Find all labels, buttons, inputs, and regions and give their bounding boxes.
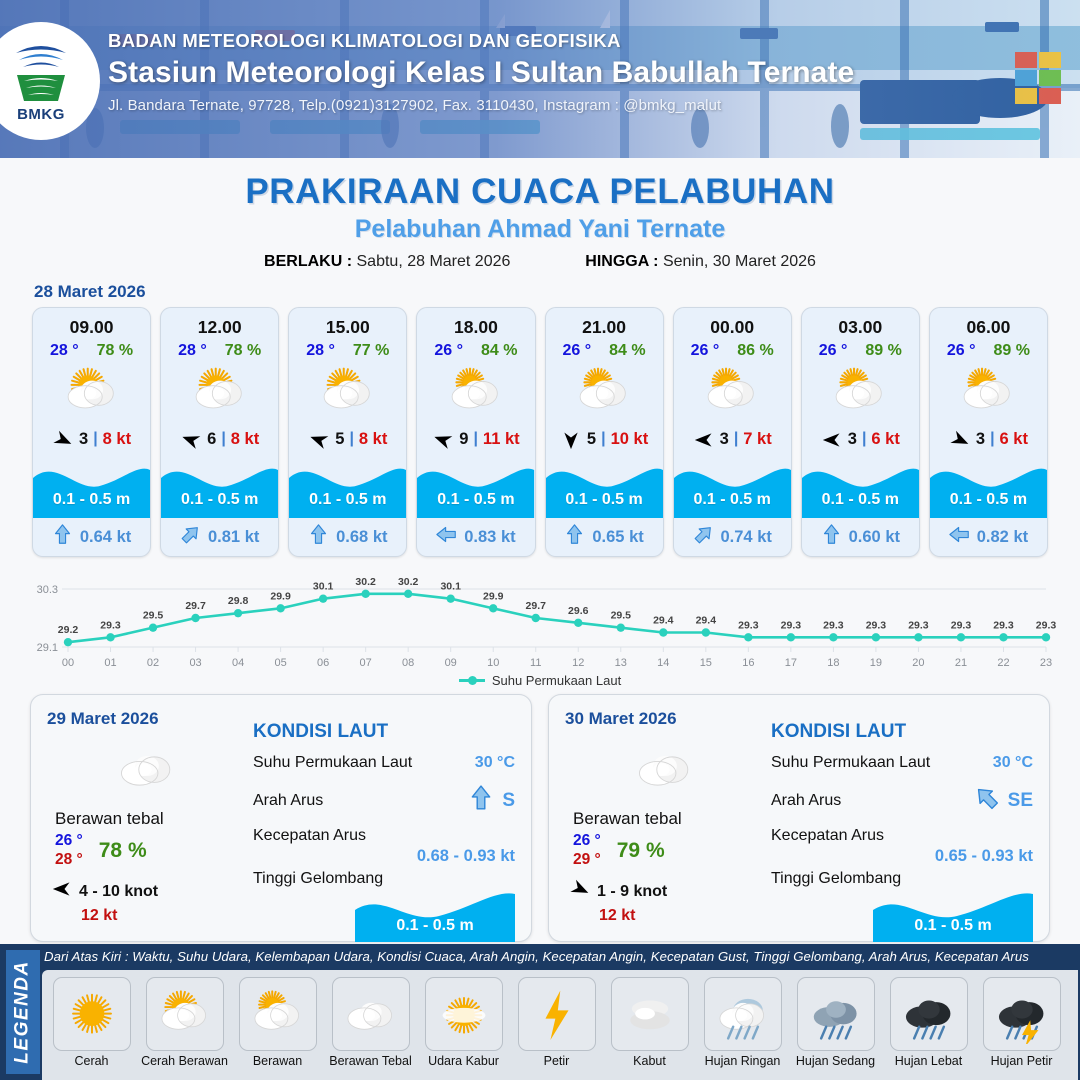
card-humidity: 86 %	[737, 342, 773, 360]
svg-text:07: 07	[360, 657, 372, 669]
daily-wave-box: 0.1 - 0.5 m	[355, 890, 515, 942]
current-direction-arrow-icon	[974, 783, 1000, 818]
wind-direction-arrow-icon	[569, 879, 591, 904]
gust-speed: 8 kt	[231, 430, 259, 449]
petir-icon	[518, 977, 596, 1051]
card-current: 0.68 kt	[289, 518, 406, 556]
hourly-card: 03.00 26 ° 89 % 3 | 6 kt 0.1 - 0.5 m 0.6…	[801, 307, 920, 557]
card-wave: 0.1 - 0.5 m	[161, 456, 278, 518]
berawan-tebal-icon	[47, 737, 247, 799]
card-wind: 6 | 8 kt	[161, 422, 278, 456]
svg-text:22: 22	[997, 657, 1009, 669]
svg-text:29.3: 29.3	[100, 619, 121, 631]
card-temp-hum: 26 ° 84 %	[417, 338, 534, 360]
daily-gust: 12 kt	[81, 907, 247, 925]
wave-height: 0.1 - 0.5 m	[33, 491, 150, 509]
separator: |	[734, 430, 738, 448]
current-speed: 0.60 kt	[849, 528, 900, 547]
page-subtitle: Pelabuhan Ahmad Yani Ternate	[0, 215, 1080, 244]
wind-speed: 3	[848, 430, 857, 449]
separator: |	[221, 430, 225, 448]
separator: |	[990, 430, 994, 448]
wave-height: 0.1 - 0.5 m	[802, 491, 919, 509]
current-speed: 0.64 kt	[80, 528, 131, 547]
svg-text:19: 19	[870, 657, 882, 669]
daily-sea-conditions: KONDISI LAUT Suhu Permukaan Laut 30 °C A…	[247, 709, 515, 931]
legend-item: Hujan Ringan	[697, 977, 788, 1068]
separator: |	[862, 430, 866, 448]
card-current: 0.65 kt	[546, 518, 663, 556]
daily-wind: 1 - 9 knot	[569, 879, 765, 904]
current-speed: 0.65 kt	[592, 528, 643, 547]
daily-temp-max: 29 °	[573, 851, 601, 869]
legend-item-label: Hujan Sedang	[796, 1054, 875, 1068]
card-current: 0.64 kt	[33, 518, 150, 556]
hujan-ringan-icon	[704, 977, 782, 1051]
gust-speed: 8 kt	[103, 430, 131, 449]
daily-wave-height: 0.1 - 0.5 m	[873, 917, 1033, 935]
daily-humidity: 79 %	[617, 839, 665, 863]
wave-height-label: Tinggi Gelombang	[771, 870, 1033, 888]
daily-wind: 4 - 10 knot	[51, 879, 247, 904]
current-speed: 0.82 kt	[977, 528, 1028, 547]
hujan-sedang-icon	[797, 977, 875, 1051]
current-direction-arrow-icon	[468, 783, 494, 818]
legend-item-label: Cerah	[74, 1054, 108, 1068]
current-speed-value: 0.68 - 0.93 kt	[253, 847, 515, 866]
legend-item-label: Kabut	[633, 1054, 666, 1068]
berawan-icon	[802, 362, 919, 422]
hourly-date-label: 28 Maret 2026	[34, 282, 1080, 302]
svg-text:09: 09	[445, 657, 457, 669]
card-wave: 0.1 - 0.5 m	[289, 456, 406, 518]
svg-text:00: 00	[62, 657, 74, 669]
legend-item: Hujan Lebat	[883, 977, 974, 1068]
valid-until-value: Senin, 30 Maret 2026	[663, 253, 816, 270]
card-humidity: 84 %	[481, 342, 517, 360]
card-wave: 0.1 - 0.5 m	[930, 456, 1047, 518]
legend-item: Hujan Sedang	[790, 977, 881, 1068]
hourly-card: 06.00 26 ° 89 % 3 | 6 kt 0.1 - 0.5 m 0.8…	[929, 307, 1048, 557]
svg-text:13: 13	[615, 657, 627, 669]
card-temperature: 26 °	[691, 342, 720, 360]
sst-value: 30 °C	[475, 754, 515, 772]
wind-direction-arrow-icon	[432, 430, 454, 448]
current-direction-arrow-icon	[436, 523, 457, 551]
card-temp-hum: 26 ° 86 %	[674, 338, 791, 360]
wind-direction-arrow-icon	[308, 430, 330, 448]
valid-until-label: HINGGA :	[585, 253, 658, 270]
card-temp-hum: 26 ° 89 %	[802, 338, 919, 360]
card-time: 12.00	[161, 308, 278, 338]
card-humidity: 78 %	[97, 342, 133, 360]
svg-text:06: 06	[317, 657, 329, 669]
svg-text:02: 02	[147, 657, 159, 669]
current-direction-row: Arah Arus SE	[771, 783, 1033, 818]
svg-text:30.2: 30.2	[398, 576, 419, 588]
wind-direction-arrow-icon	[821, 430, 843, 448]
legend-strip-label: LEGENDA	[12, 960, 34, 1063]
card-wave: 0.1 - 0.5 m	[674, 456, 791, 518]
berawan-icon	[546, 362, 663, 422]
sea-conditions-title: KONDISI LAUT	[771, 721, 1033, 743]
svg-text:17: 17	[785, 657, 797, 669]
card-wave: 0.1 - 0.5 m	[33, 456, 150, 518]
legend-item: Kabut	[604, 977, 695, 1068]
wind-speed: 6	[207, 430, 216, 449]
svg-text:29.9: 29.9	[270, 590, 291, 602]
svg-text:14: 14	[657, 657, 669, 669]
card-temperature: 28 °	[306, 342, 335, 360]
legend-item-label: Udara Kabur	[428, 1054, 499, 1068]
svg-text:29.3: 29.3	[908, 619, 929, 631]
sea-conditions-title: KONDISI LAUT	[253, 721, 515, 743]
daily-temp-min: 26 °	[573, 832, 601, 850]
svg-text:29.3: 29.3	[781, 619, 802, 631]
wave-height: 0.1 - 0.5 m	[289, 491, 406, 509]
daily-summary-panel: 30 Maret 2026 Berawan tebal 26 ° 29 ° 79…	[548, 694, 1050, 942]
legend-item: Berawan	[232, 977, 323, 1068]
cerah-berawan-icon	[161, 362, 278, 422]
hujan-lebat-icon	[890, 977, 968, 1051]
svg-text:18: 18	[827, 657, 839, 669]
daily-left: 30 Maret 2026 Berawan tebal 26 ° 29 ° 79…	[565, 709, 765, 931]
card-temperature: 26 °	[434, 342, 463, 360]
wind-speed: 3	[976, 430, 985, 449]
card-wind: 3 | 6 kt	[802, 422, 919, 456]
legend-item: Hujan Petir	[976, 977, 1067, 1068]
svg-text:29.1: 29.1	[37, 642, 58, 654]
udara-kabur-icon	[425, 977, 503, 1051]
svg-text:16: 16	[742, 657, 754, 669]
hourly-forecast-row: 09.00 28 ° 78 % 3 | 8 kt 0.1 - 0.5 m 0.6…	[0, 307, 1080, 557]
legend-item: Berawan Tebal	[325, 977, 416, 1068]
card-time: 09.00	[33, 308, 150, 338]
wind-direction-arrow-icon	[949, 430, 971, 448]
wave-height: 0.1 - 0.5 m	[546, 491, 663, 509]
title-section: PRAKIRAAN CUACA PELABUHAN Pelabuhan Ahma…	[0, 158, 1080, 271]
card-time: 00.00	[674, 308, 791, 338]
wind-speed: 5	[587, 430, 596, 449]
svg-text:29.2: 29.2	[58, 624, 79, 636]
card-temperature: 28 °	[50, 342, 79, 360]
card-wind: 5 | 8 kt	[289, 422, 406, 456]
card-current: 0.81 kt	[161, 518, 278, 556]
current-speed: 0.74 kt	[721, 528, 772, 547]
card-wave: 0.1 - 0.5 m	[546, 456, 663, 518]
current-speed: 0.68 kt	[336, 528, 387, 547]
legend-section: LEGENDA Dari Atas Kiri : Waktu, Suhu Uda…	[0, 944, 1080, 1080]
wind-speed: 3	[79, 430, 88, 449]
sst-label: Suhu Permukaan Laut	[253, 754, 412, 772]
card-current: 0.74 kt	[674, 518, 791, 556]
daily-temp-max: 28 °	[55, 851, 83, 869]
svg-text:29.5: 29.5	[611, 610, 632, 622]
wind-direction-arrow-icon	[560, 430, 582, 448]
gust-speed: 8 kt	[359, 430, 387, 449]
card-humidity: 78 %	[225, 342, 261, 360]
current-direction-value: SE	[974, 783, 1033, 818]
legend-item: Petir	[511, 977, 602, 1068]
wave-height: 0.1 - 0.5 m	[674, 491, 791, 509]
card-temperature: 26 °	[563, 342, 592, 360]
gust-speed: 11 kt	[483, 430, 520, 449]
card-time: 06.00	[930, 308, 1047, 338]
valid-from-value: Sabtu, 28 Maret 2026	[357, 253, 511, 270]
page-header: BMKG BADAN METEOROLOGI KLIMATOLOGI DAN G…	[0, 0, 1080, 158]
card-time: 21.00	[546, 308, 663, 338]
current-speed-label: Kecepatan Arus	[771, 827, 1033, 845]
current-direction-arrow-icon	[693, 523, 714, 551]
current-direction-arrow-icon	[180, 523, 201, 551]
daily-wind-range: 1 - 9 knot	[597, 883, 667, 901]
svg-text:30.1: 30.1	[313, 581, 334, 593]
berawan-icon	[674, 362, 791, 422]
sst-chart: 30.329.100010203040506070809101112131415…	[20, 567, 1060, 677]
current-speed-row: Kecepatan Arus 0.68 - 0.93 kt	[253, 827, 515, 866]
cerah-berawan-icon	[146, 977, 224, 1051]
daily-sea-conditions: KONDISI LAUT Suhu Permukaan Laut 30 °C A…	[765, 709, 1033, 931]
legend-strip: LEGENDA	[6, 950, 40, 1074]
card-wave: 0.1 - 0.5 m	[802, 456, 919, 518]
gust-speed: 10 kt	[611, 430, 649, 449]
daily-humidity: 78 %	[99, 839, 147, 863]
svg-text:04: 04	[232, 657, 244, 669]
cerah-berawan-icon	[289, 362, 406, 422]
legend-item-label: Cerah Berawan	[141, 1054, 228, 1068]
hourly-card: 00.00 26 ° 86 % 3 | 7 kt 0.1 - 0.5 m 0.7…	[673, 307, 792, 557]
wind-direction-arrow-icon	[180, 430, 202, 448]
valid-from-label: BERLAKU :	[264, 253, 352, 270]
current-direction-text: SE	[1008, 790, 1033, 812]
card-wind: 9 | 11 kt	[417, 422, 534, 456]
card-time: 03.00	[802, 308, 919, 338]
berawan-icon	[239, 977, 317, 1051]
card-temperature: 26 °	[819, 342, 848, 360]
card-current: 0.82 kt	[930, 518, 1047, 556]
bmkg-logo-mark	[8, 37, 74, 105]
wind-direction-arrow-icon	[693, 430, 715, 448]
hourly-card: 15.00 28 ° 77 % 5 | 8 kt 0.1 - 0.5 m 0.6…	[288, 307, 407, 557]
card-humidity: 84 %	[609, 342, 645, 360]
daily-temps: 26 ° 28 ° 78 %	[55, 832, 247, 869]
wave-height-label: Tinggi Gelombang	[253, 870, 515, 888]
legend-item-label: Berawan	[253, 1054, 302, 1068]
legend-item-label: Petir	[544, 1054, 570, 1068]
wave-height: 0.1 - 0.5 m	[930, 491, 1047, 509]
svg-text:29.3: 29.3	[738, 619, 759, 631]
current-direction-value: S	[468, 783, 515, 818]
berawan-tebal-icon	[565, 737, 765, 799]
legend-item: Udara Kabur	[418, 977, 509, 1068]
wind-direction-arrow-icon	[52, 430, 74, 448]
svg-text:10: 10	[487, 657, 499, 669]
station-name: Stasiun Meteorologi Kelas I Sultan Babul…	[108, 56, 854, 90]
current-direction-text: S	[502, 790, 515, 812]
card-humidity: 89 %	[865, 342, 901, 360]
cerah-icon	[53, 977, 131, 1051]
card-current: 0.83 kt	[417, 518, 534, 556]
current-direction-label: Arah Arus	[771, 792, 841, 810]
validity-line: BERLAKU : Sabtu, 28 Maret 2026 HINGGA : …	[0, 253, 1080, 271]
svg-text:29.3: 29.3	[1036, 619, 1057, 631]
header-text-block: BADAN METEOROLOGI KLIMATOLOGI DAN GEOFIS…	[108, 30, 854, 114]
svg-text:29.3: 29.3	[993, 619, 1014, 631]
hourly-card: 18.00 26 ° 84 % 9 | 11 kt 0.1 - 0.5 m 0.…	[416, 307, 535, 557]
sst-value: 30 °C	[993, 754, 1033, 772]
wind-speed: 9	[459, 430, 468, 449]
svg-text:03: 03	[189, 657, 201, 669]
hourly-card: 21.00 26 ° 84 % 5 | 10 kt 0.1 - 0.5 m 0.…	[545, 307, 664, 557]
svg-text:29.3: 29.3	[866, 619, 887, 631]
svg-text:29.4: 29.4	[653, 615, 674, 627]
svg-text:11: 11	[530, 657, 541, 669]
svg-text:29.3: 29.3	[951, 619, 972, 631]
station-address: Jl. Bandara Ternate, 97728, Telp.(0921)3…	[108, 97, 854, 114]
gust-speed: 6 kt	[871, 430, 899, 449]
kabut-icon	[611, 977, 689, 1051]
svg-text:29.7: 29.7	[526, 600, 547, 612]
card-wind: 3 | 6 kt	[930, 422, 1047, 456]
bmkg-logo-text: BMKG	[17, 106, 65, 123]
agency-name: BADAN METEOROLOGI KLIMATOLOGI DAN GEOFIS…	[108, 30, 854, 52]
svg-text:30.1: 30.1	[440, 581, 461, 593]
svg-text:29.8: 29.8	[228, 595, 249, 607]
current-direction-arrow-icon	[821, 523, 842, 551]
current-speed-row: Kecepatan Arus 0.65 - 0.93 kt	[771, 827, 1033, 866]
svg-text:30.3: 30.3	[37, 584, 58, 596]
daily-date: 30 Maret 2026	[565, 709, 765, 729]
svg-text:01: 01	[104, 657, 116, 669]
hourly-card: 12.00 28 ° 78 % 6 | 8 kt 0.1 - 0.5 m 0.8…	[160, 307, 279, 557]
daily-date: 29 Maret 2026	[47, 709, 247, 729]
svg-text:30.2: 30.2	[355, 576, 376, 588]
card-current: 0.60 kt	[802, 518, 919, 556]
svg-text:29.5: 29.5	[143, 610, 164, 622]
legend-item: Cerah	[46, 977, 137, 1068]
svg-text:20: 20	[912, 657, 924, 669]
separator: |	[473, 430, 477, 448]
chart-legend-marker-icon	[459, 679, 485, 682]
separator: |	[349, 430, 353, 448]
legend-item-label: Hujan Ringan	[705, 1054, 781, 1068]
card-time: 18.00	[417, 308, 534, 338]
card-temp-hum: 26 ° 89 %	[930, 338, 1047, 360]
card-humidity: 89 %	[994, 342, 1030, 360]
legend-item-label: Hujan Petir	[991, 1054, 1053, 1068]
sst-row: Suhu Permukaan Laut 30 °C	[771, 754, 1033, 772]
svg-text:08: 08	[402, 657, 414, 669]
berawan-tebal-icon	[332, 977, 410, 1051]
card-wave: 0.1 - 0.5 m	[417, 456, 534, 518]
daily-condition: Berawan tebal	[55, 809, 247, 829]
card-temp-hum: 28 ° 78 %	[161, 338, 278, 360]
svg-text:29.3: 29.3	[823, 619, 844, 631]
current-direction-arrow-icon	[52, 523, 73, 551]
svg-text:29.4: 29.4	[696, 615, 717, 627]
card-temperature: 26 °	[947, 342, 976, 360]
card-wind: 3 | 7 kt	[674, 422, 791, 456]
daily-wave-box: 0.1 - 0.5 m	[873, 890, 1033, 942]
svg-text:29.9: 29.9	[483, 590, 504, 602]
legend-note: Dari Atas Kiri : Waktu, Suhu Udara, Kele…	[44, 949, 1076, 964]
card-temp-hum: 28 ° 78 %	[33, 338, 150, 360]
daily-wave-height: 0.1 - 0.5 m	[355, 917, 515, 935]
current-direction-arrow-icon	[564, 523, 585, 551]
svg-text:05: 05	[274, 657, 286, 669]
svg-text:12: 12	[572, 657, 584, 669]
current-speed-label: Kecepatan Arus	[253, 827, 515, 845]
card-time: 15.00	[289, 308, 406, 338]
current-direction-label: Arah Arus	[253, 792, 323, 810]
card-humidity: 77 %	[353, 342, 389, 360]
current-speed: 0.83 kt	[464, 528, 515, 547]
page-title: PRAKIRAAN CUACA PELABUHAN	[0, 172, 1080, 212]
daily-summary-panel: 29 Maret 2026 Berawan tebal 26 ° 28 ° 78…	[30, 694, 532, 942]
separator: |	[93, 430, 97, 448]
daily-summary-row: 29 Maret 2026 Berawan tebal 26 ° 28 ° 78…	[0, 688, 1080, 942]
wave-height: 0.1 - 0.5 m	[417, 491, 534, 509]
card-temp-hum: 28 ° 77 %	[289, 338, 406, 360]
daily-temp-min: 26 °	[55, 832, 83, 850]
daily-condition: Berawan tebal	[573, 809, 765, 829]
wind-direction-arrow-icon	[51, 879, 73, 904]
card-temperature: 28 °	[178, 342, 207, 360]
legend-item-label: Berawan Tebal	[329, 1054, 411, 1068]
daily-temps: 26 ° 29 ° 79 %	[573, 832, 765, 869]
legend-items: Cerah Cerah Berawan Berawan Berawan Teba…	[42, 970, 1078, 1080]
sst-row: Suhu Permukaan Laut 30 °C	[253, 754, 515, 772]
current-speed-value: 0.65 - 0.93 kt	[771, 847, 1033, 866]
daily-wind-range: 4 - 10 knot	[79, 883, 158, 901]
gust-speed: 6 kt	[1000, 430, 1028, 449]
berawan-icon	[417, 362, 534, 422]
wind-speed: 5	[335, 430, 344, 449]
separator: |	[601, 430, 605, 448]
svg-text:23: 23	[1040, 657, 1052, 669]
current-direction-arrow-icon	[308, 523, 329, 551]
legend-item: Cerah Berawan	[139, 977, 230, 1068]
wind-speed: 3	[720, 430, 729, 449]
daily-left: 29 Maret 2026 Berawan tebal 26 ° 28 ° 78…	[47, 709, 247, 931]
card-wind: 3 | 8 kt	[33, 422, 150, 456]
hujan-petir-icon	[983, 977, 1061, 1051]
cerah-berawan-icon	[33, 362, 150, 422]
gust-speed: 7 kt	[743, 430, 771, 449]
svg-text:21: 21	[955, 657, 967, 669]
current-direction-row: Arah Arus S	[253, 783, 515, 818]
berawan-icon	[930, 362, 1047, 422]
svg-text:29.7: 29.7	[185, 600, 206, 612]
card-temp-hum: 26 ° 84 %	[546, 338, 663, 360]
svg-text:15: 15	[700, 657, 712, 669]
sst-label: Suhu Permukaan Laut	[771, 754, 930, 772]
hourly-card: 09.00 28 ° 78 % 3 | 8 kt 0.1 - 0.5 m 0.6…	[32, 307, 151, 557]
current-direction-arrow-icon	[949, 523, 970, 551]
current-speed: 0.81 kt	[208, 528, 259, 547]
card-wind: 5 | 10 kt	[546, 422, 663, 456]
svg-text:29.6: 29.6	[568, 605, 589, 617]
daily-gust: 12 kt	[599, 907, 765, 925]
wave-height: 0.1 - 0.5 m	[161, 491, 278, 509]
legend-item-label: Hujan Lebat	[895, 1054, 962, 1068]
